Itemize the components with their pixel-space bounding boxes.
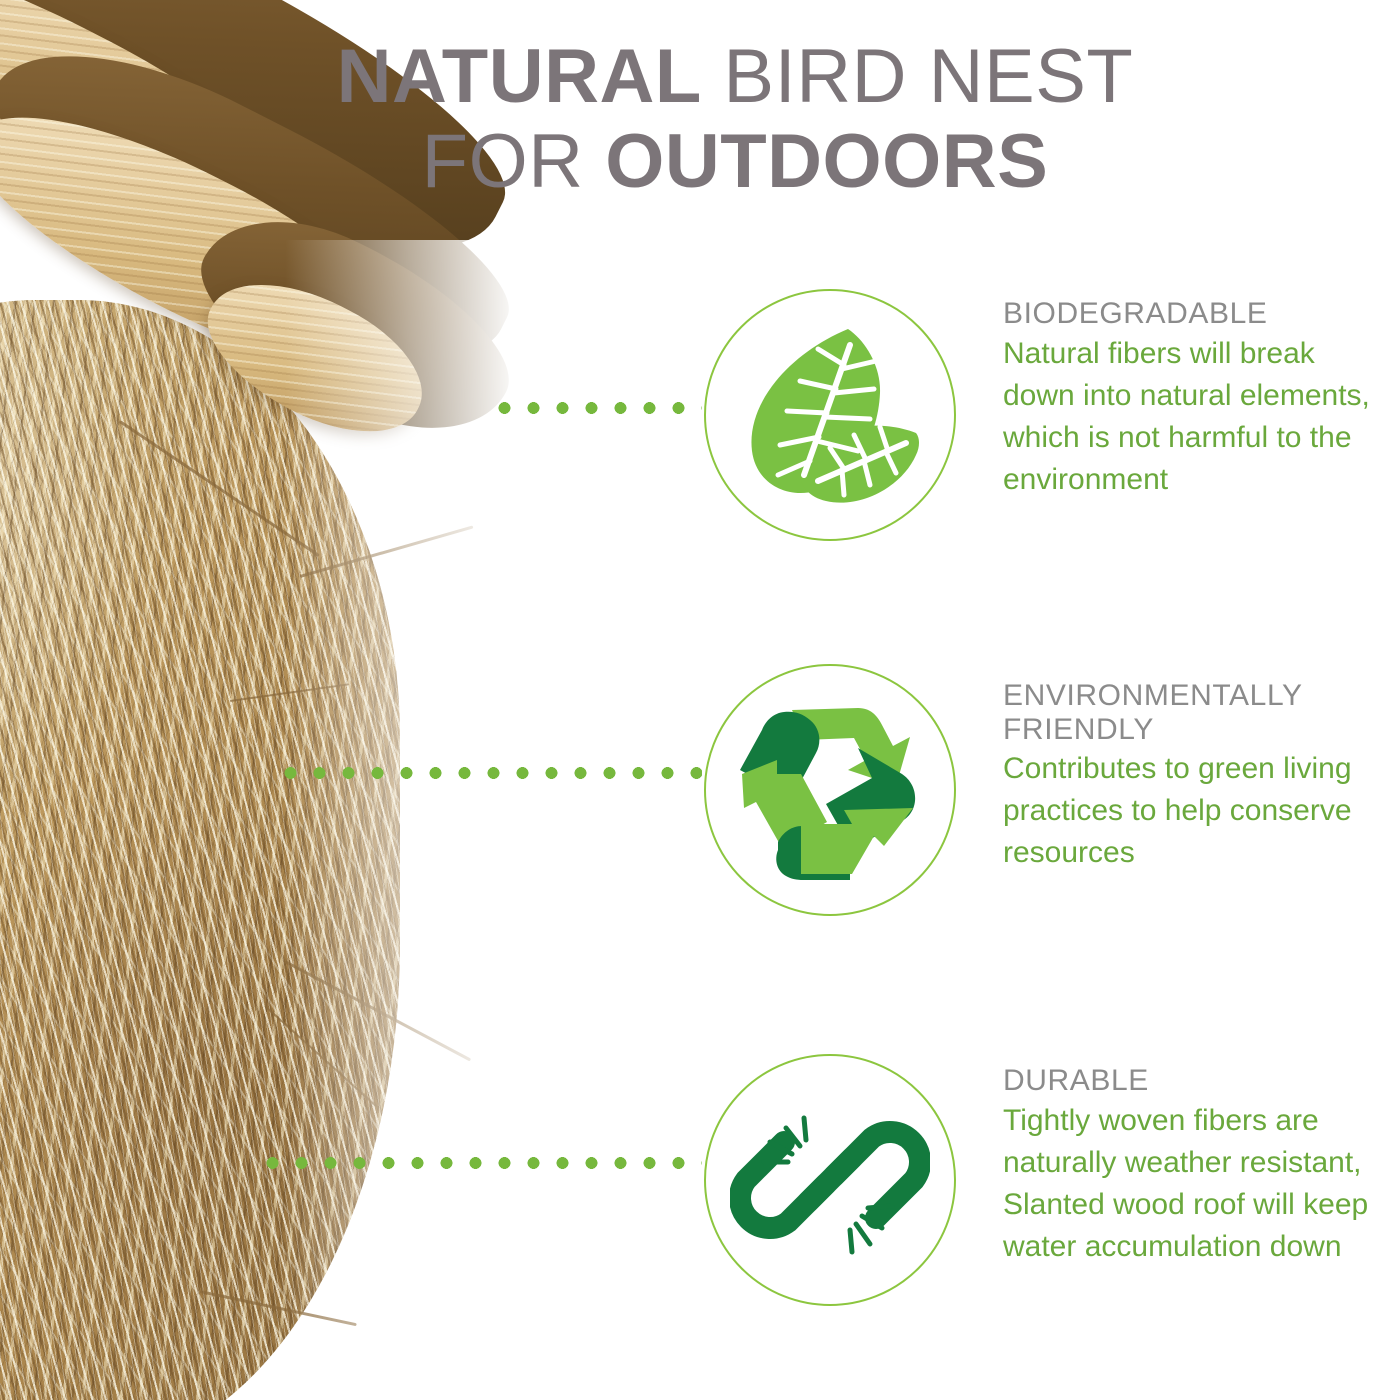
feature-durable: DURABLE Tightly woven fibers are natural… [0,0,1400,1400]
feature-text-durable: DURABLE Tightly woven fibers are natural… [1003,1064,1375,1268]
infographic-canvas: NATURAL BIRD NEST FOR OUTDOORS [0,0,1400,1400]
feature-body: Tightly woven fibers are naturally weath… [1003,1100,1375,1268]
connector-dots-3 [258,1157,702,1169]
icon-circle-durable [704,1054,956,1306]
feature-heading: DURABLE [1003,1064,1375,1098]
chain-link-icon [730,1080,930,1280]
